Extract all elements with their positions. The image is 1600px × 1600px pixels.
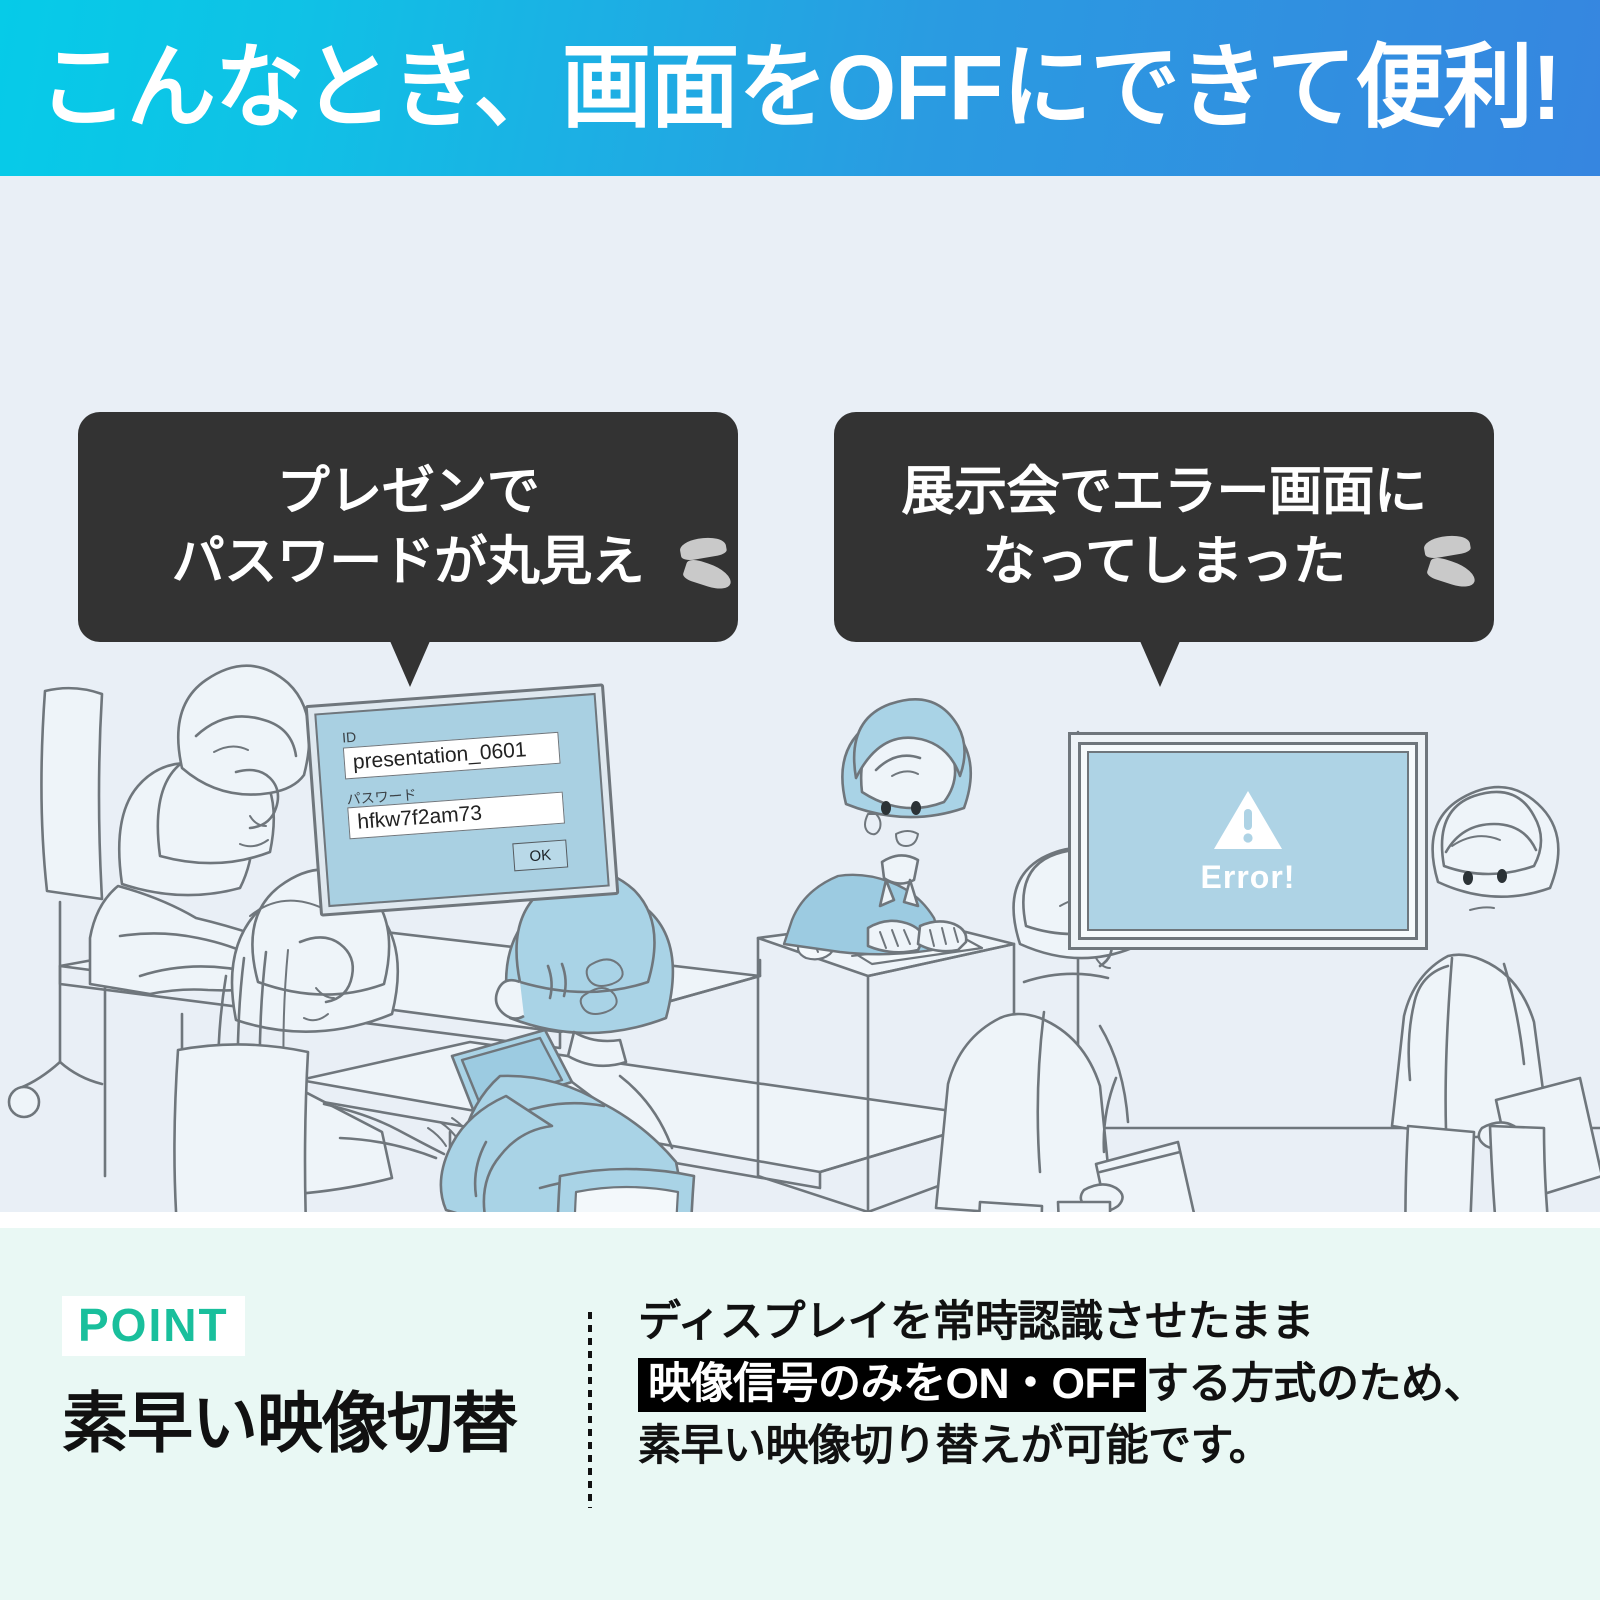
dotted-divider [588, 1312, 592, 1508]
error-text: Error! [1201, 859, 1296, 896]
scene-lineart: .ln { fill:none; stroke:#6f767c; stroke-… [0, 176, 1600, 1212]
presentation-display: ID presentation_0601 パスワード hfkw7f2am73 O… [305, 683, 620, 916]
bubble-left-tail [390, 641, 430, 687]
point-body-line2: 映像信号のみをON・OFFする方式のため、 [638, 1354, 1568, 1416]
point-body-line2-rest: する方式のため、 [1146, 1360, 1486, 1408]
id-field[interactable]: presentation_0601 [343, 732, 561, 780]
sweat-drops-icon [1416, 528, 1486, 588]
point-heading: 素早い映像切替 [62, 1370, 517, 1466]
point-badge-label: POINT [78, 1299, 229, 1351]
id-value: presentation_0601 [352, 738, 527, 775]
point-body: ディスプレイを常時認識させたまま 映像信号のみをON・OFFする方式のため、 素… [638, 1292, 1568, 1478]
ok-button[interactable]: OK [512, 839, 568, 871]
point-body-line3: 素早い映像切り替えが可能です。 [638, 1416, 1568, 1478]
page-title: こんなとき、画面をOFFにできて便利! [39, 42, 1561, 134]
point-badge: POINT [62, 1296, 245, 1356]
sweat-drops-icon [672, 530, 742, 590]
warning-triangle-icon [1211, 787, 1285, 853]
exhibition-display: Error! [1068, 732, 1428, 950]
ok-button-label: OK [529, 846, 552, 865]
infographic-page: こんなとき、画面をOFFにできて便利! .ln { fill:none; str… [0, 0, 1600, 1600]
header-banner: こんなとき、画面をOFFにできて便利! [0, 0, 1600, 176]
bubble-left-line2: パスワードが丸見え [172, 527, 645, 597]
bubble-right-tail [1140, 641, 1180, 687]
booth-attendant [784, 699, 971, 954]
password-value: hfkw7f2am73 [357, 802, 483, 835]
id-label: ID [342, 729, 357, 746]
presentation-bubble: プレゼンで パスワードが丸見え [78, 412, 738, 642]
bubble-right-line2: なってしまった [983, 527, 1346, 597]
exhibition-bubble: 展示会でエラー画面に なってしまった [834, 412, 1494, 642]
point-body-highlight: 映像信号のみをON・OFF [638, 1358, 1146, 1412]
illustration-panel: .ln { fill:none; stroke:#6f767c; stroke-… [0, 176, 1600, 1212]
point-body-line1: ディスプレイを常時認識させたまま [638, 1292, 1568, 1354]
bubble-left-line1: プレゼンで [277, 457, 540, 527]
bubble-right-line1: 展示会でエラー画面に [902, 457, 1427, 527]
login-screen: ID presentation_0601 パスワード hfkw7f2am73 O… [314, 693, 609, 907]
error-screen: Error! [1087, 751, 1409, 931]
